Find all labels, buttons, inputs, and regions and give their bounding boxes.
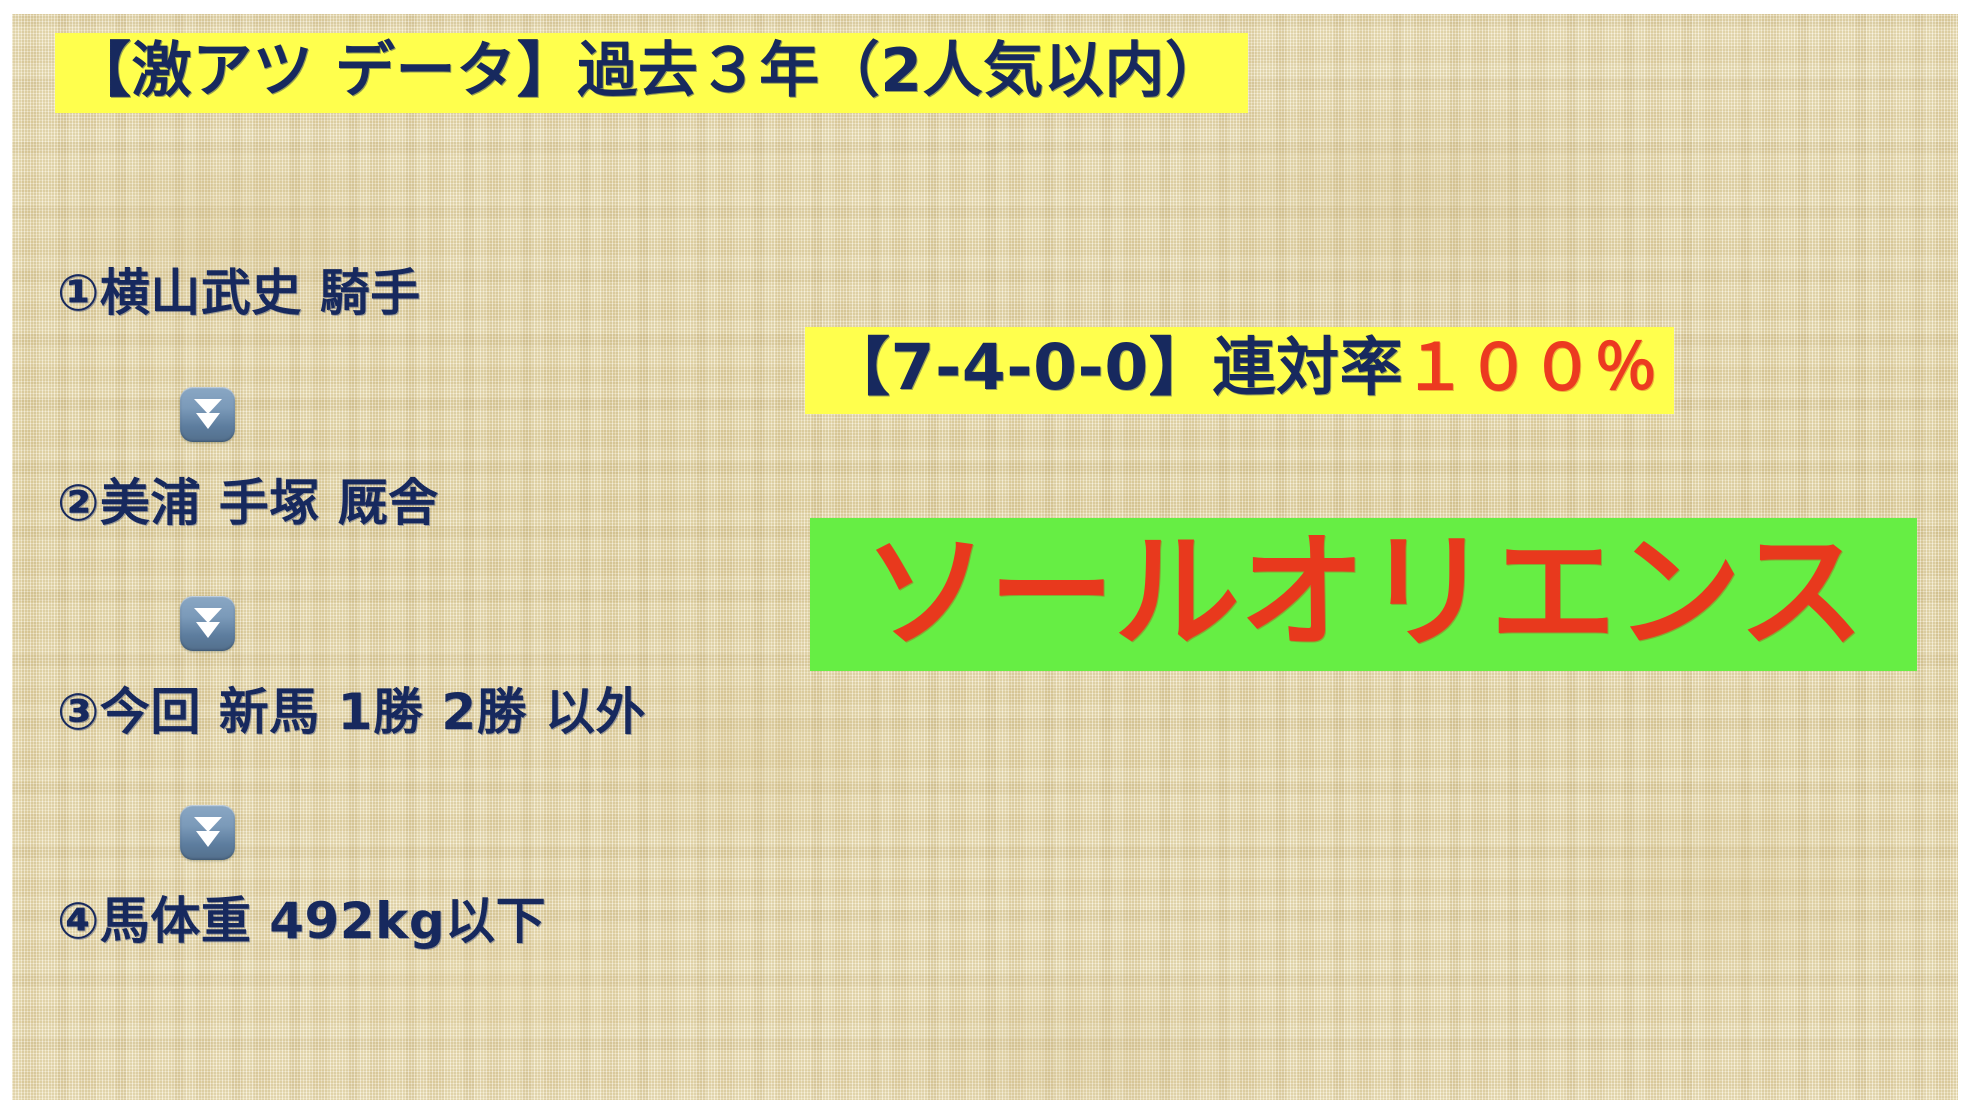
slide-canvas: 【激アツ データ】過去３年（2人気以内） ①横山武史 騎手 ②美浦 手塚 厩舎 …: [0, 0, 1970, 1114]
frame-edge-top: [0, 0, 1970, 14]
condition-item-1: ①横山武史 騎手: [57, 268, 421, 318]
record-line: 【7-4-0-0】連対率１００％: [827, 336, 1658, 400]
condition-label-2: ②美浦 手塚 厩舎: [57, 478, 439, 528]
horse-name-text: ソールオリエンス: [863, 530, 1863, 656]
record-banner: 【7-4-0-0】連対率１００％: [805, 327, 1674, 414]
condition-label-3: ③今回 新馬 1勝 2勝 以外: [57, 687, 646, 737]
record-rate-label: 連対率: [1212, 331, 1403, 404]
condition-item-2: ②美浦 手塚 厩舎: [57, 478, 439, 528]
double-chevron-down-icon: [180, 805, 235, 860]
headline-text: 【激アツ データ】過去３年（2人気以内）: [71, 40, 1226, 102]
frame-edge-right: [1958, 0, 1970, 1114]
condition-item-4: ④馬体重 492kg以下: [57, 896, 546, 946]
condition-label-1: ①横山武史 騎手: [57, 268, 421, 318]
headline-banner: 【激アツ データ】過去３年（2人気以内）: [55, 33, 1248, 113]
condition-label-4: ④馬体重 492kg以下: [57, 896, 546, 946]
horse-name-banner: ソールオリエンス: [810, 518, 1917, 671]
frame-edge-bottom: [0, 1100, 1970, 1114]
double-chevron-down-icon: [180, 387, 235, 442]
frame-edge-left: [0, 0, 12, 1114]
record-rate-value: １００％: [1403, 331, 1658, 404]
condition-item-3: ③今回 新馬 1勝 2勝 以外: [57, 687, 646, 737]
record-bracket-value: 【7-4-0-0】: [827, 331, 1212, 404]
double-chevron-down-icon: [180, 596, 235, 651]
